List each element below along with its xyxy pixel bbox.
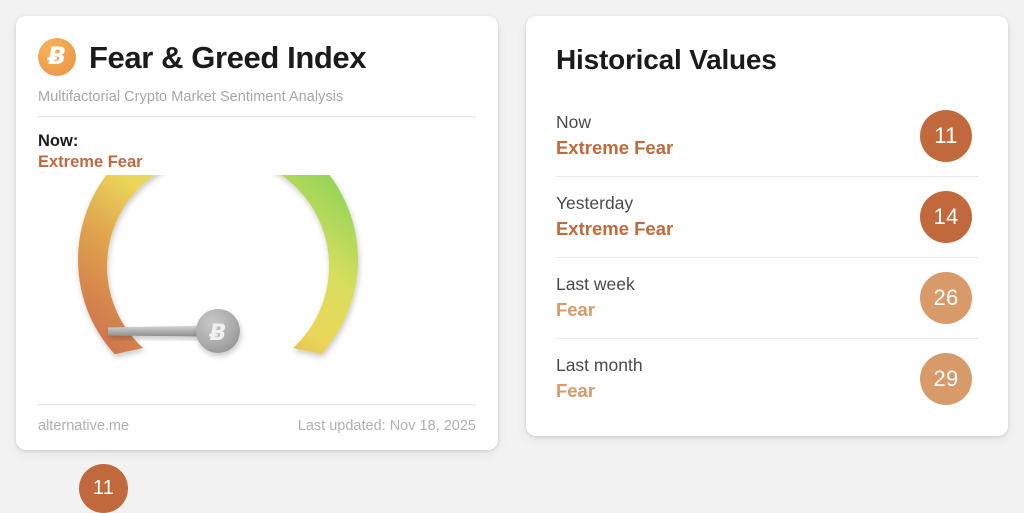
- row-classification: Extreme Fear: [556, 216, 673, 243]
- row-period-label: Yesterday: [556, 190, 673, 216]
- last-updated-text: Last updated: Nov 18, 2025: [298, 418, 476, 434]
- historical-values-card: Historical Values Now Extreme Fear 11 Ye…: [526, 16, 1008, 436]
- now-label: Now:: [38, 131, 476, 152]
- header-divider: [38, 116, 476, 117]
- row-value-badge: 14: [920, 191, 972, 243]
- table-row[interactable]: Now Extreme Fear 11: [556, 96, 978, 176]
- row-period-label: Last week: [556, 271, 635, 297]
- table-row[interactable]: Last week Fear 26: [556, 257, 978, 338]
- page-title: Fear & Greed Index: [89, 42, 366, 73]
- row-classification: Extreme Fear: [556, 135, 673, 162]
- bitcoin-icon: Ƀ: [38, 38, 76, 76]
- card-footer: alternative.me Last updated: Nov 18, 202…: [38, 404, 476, 434]
- row-value-badge: 29: [920, 353, 972, 405]
- historical-values-list: Now Extreme Fear 11 Yesterday Extreme Fe…: [556, 96, 978, 419]
- gauge-value-badge: 11: [79, 464, 128, 513]
- row-classification: Fear: [556, 378, 643, 405]
- page-subtitle: Multifactorial Crypto Market Sentiment A…: [38, 89, 476, 105]
- gauge-value-label: 11: [93, 477, 114, 500]
- card-header: Ƀ Fear & Greed Index: [38, 34, 476, 80]
- gauge-hub: Ƀ: [196, 309, 240, 353]
- table-row[interactable]: Yesterday Extreme Fear 14: [556, 176, 978, 257]
- row-value-label: 26: [933, 285, 958, 311]
- gauge-chart: Ƀ 11: [38, 175, 476, 407]
- now-classification: Extreme Fear: [38, 152, 476, 173]
- row-value-badge: 11: [920, 110, 972, 162]
- current-value-block: Now: Extreme Fear: [38, 131, 476, 173]
- row-value-label: 11: [934, 123, 957, 149]
- gauge-hub-bitcoin-icon: Ƀ: [209, 321, 227, 346]
- gauge-svg: Ƀ: [38, 175, 478, 415]
- table-row[interactable]: Last month Fear 29: [556, 338, 978, 419]
- fear-greed-index-card: Ƀ Fear & Greed Index Multifactorial Cryp…: [16, 16, 498, 450]
- row-value-badge: 26: [920, 272, 972, 324]
- row-period-label: Now: [556, 109, 673, 135]
- page-root: Ƀ Fear & Greed Index Multifactorial Cryp…: [0, 0, 1024, 466]
- row-period-label: Last month: [556, 352, 643, 378]
- row-value-label: 29: [933, 366, 958, 392]
- bitcoin-glyph: Ƀ: [48, 44, 66, 68]
- historical-values-title: Historical Values: [556, 46, 978, 74]
- footer-divider: [38, 404, 476, 405]
- row-value-label: 14: [933, 204, 958, 230]
- source-link[interactable]: alternative.me: [38, 418, 129, 434]
- row-classification: Fear: [556, 297, 635, 324]
